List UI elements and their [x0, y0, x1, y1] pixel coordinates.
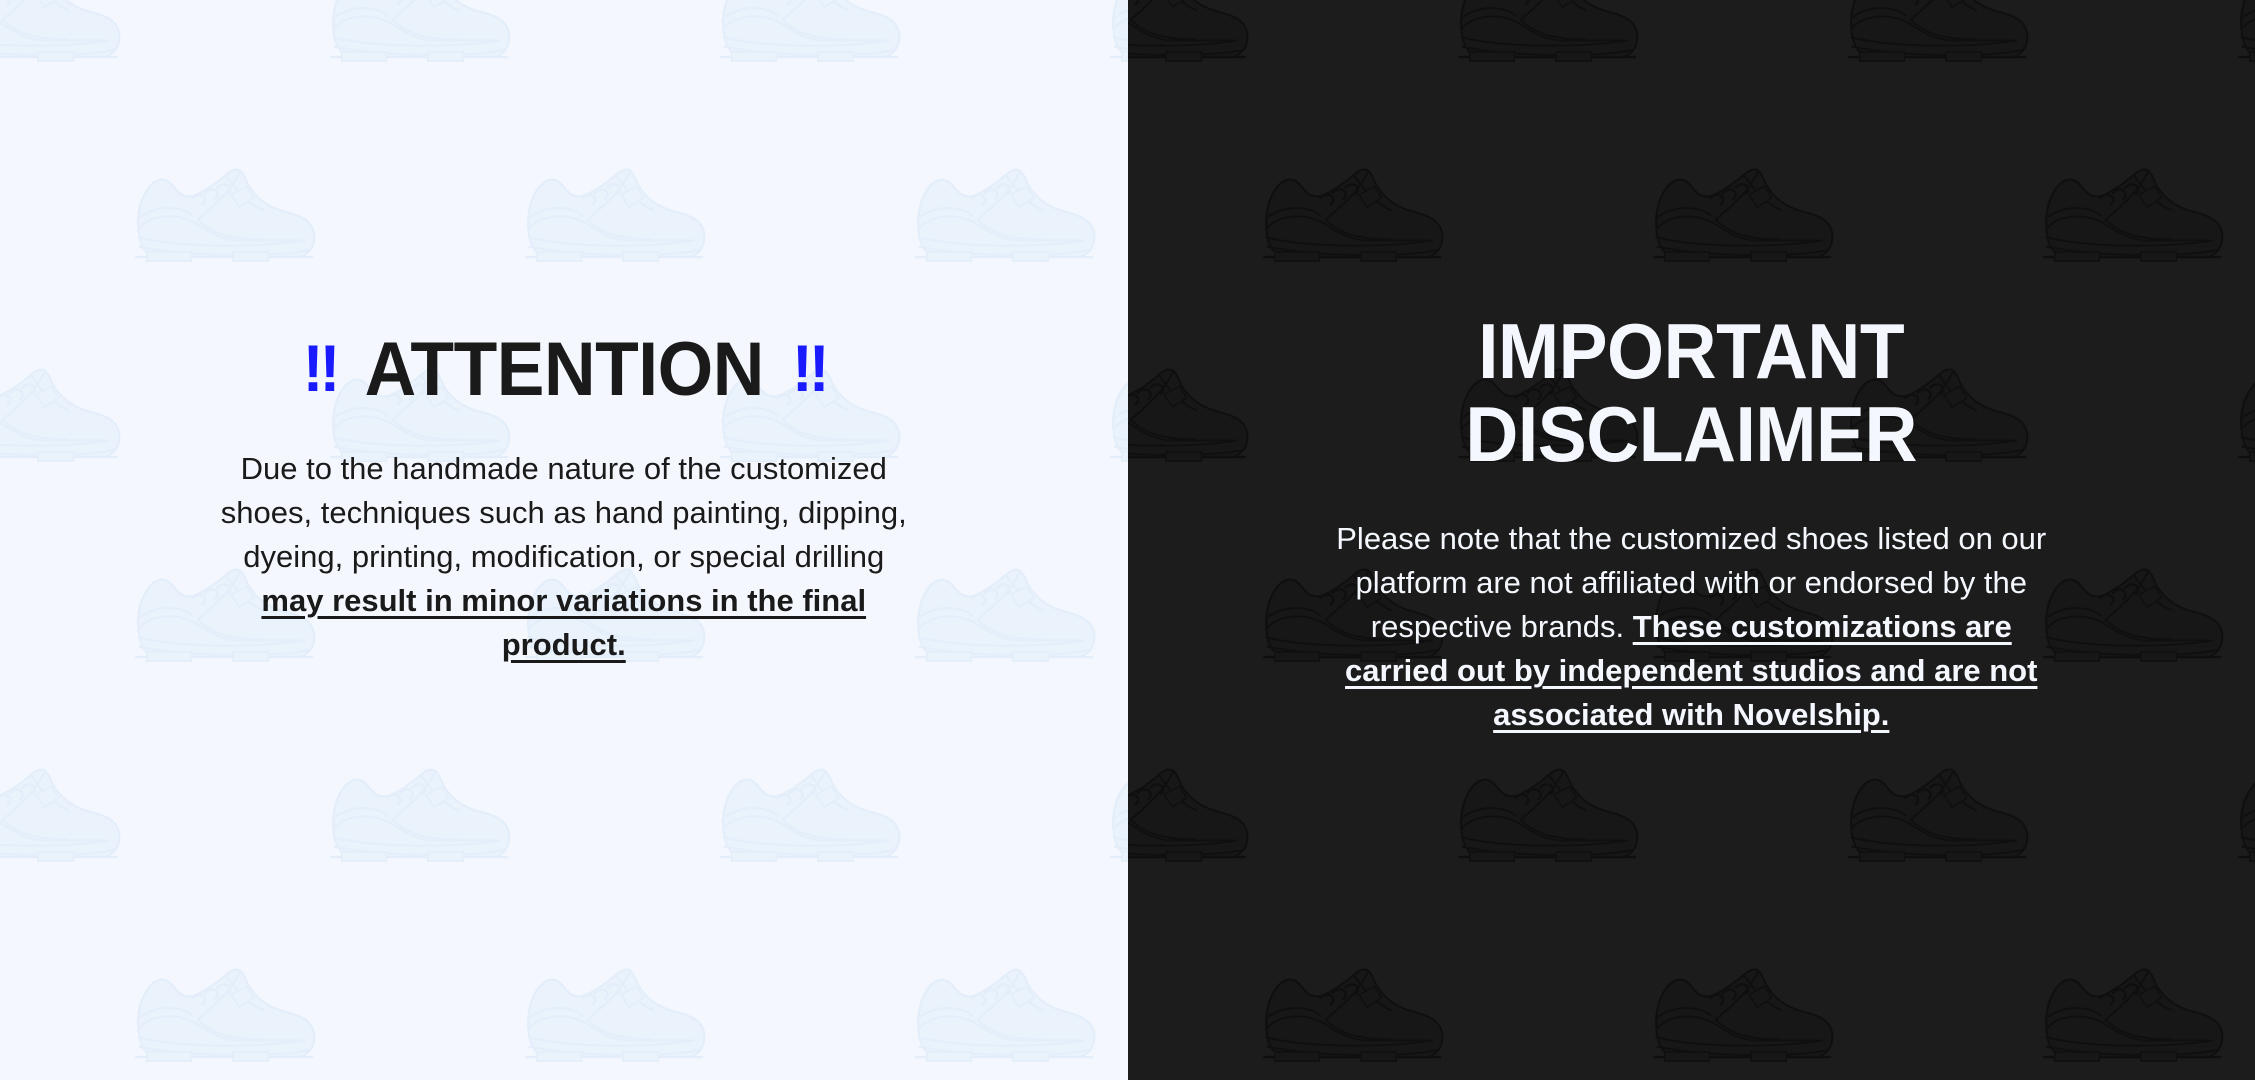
disclaimer-body: Please note that the customized shoes li…	[1329, 517, 2054, 737]
disclaimer-heading-line-1: IMPORTANT	[1478, 307, 1904, 395]
double-exclamation-right-icon: ‼	[792, 335, 826, 401]
attention-body: Due to the handmade nature of the custom…	[214, 447, 914, 667]
disclaimer-panel: IMPORTANT DISCLAIMER Please note that th…	[1128, 0, 2255, 1080]
disclaimer-heading-line-2: DISCLAIMER	[1465, 390, 1917, 478]
attention-heading: ‼ ATTENTION ‼	[302, 330, 825, 411]
disclaimer-heading: IMPORTANT DISCLAIMER	[1465, 310, 1917, 475]
attention-panel: ‼ ATTENTION ‼ Due to the handmade nature…	[0, 0, 1128, 1080]
double-exclamation-left-icon: ‼	[302, 335, 336, 401]
disclaimer-content: IMPORTANT DISCLAIMER Please note that th…	[1128, 0, 2255, 737]
attention-content: ‼ ATTENTION ‼ Due to the handmade nature…	[0, 0, 1128, 667]
attention-body-emphasis: may result in minor variations in the fi…	[261, 583, 866, 662]
attention-body-intro: Due to the handmade nature of the custom…	[221, 451, 907, 574]
disclaimer-banner: ‼ ATTENTION ‼ Due to the handmade nature…	[0, 0, 2255, 1080]
attention-heading-label: ATTENTION	[364, 330, 763, 411]
